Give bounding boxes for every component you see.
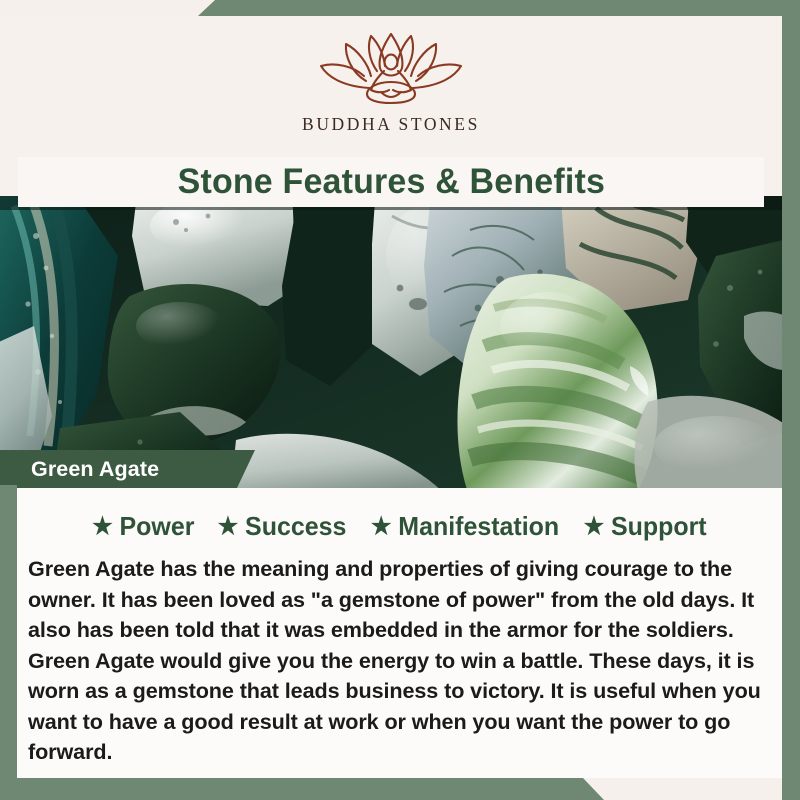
star-icon: ★ bbox=[217, 515, 238, 539]
stone-photo-illustration bbox=[0, 196, 800, 488]
keyword-list: ★ Power ★ Success ★ Manifestation ★ Supp… bbox=[17, 488, 782, 542]
stone-photo bbox=[0, 196, 800, 488]
decorative-bottom-band bbox=[0, 778, 800, 800]
keyword-label: Power bbox=[120, 511, 195, 542]
decorative-top-band bbox=[0, 0, 800, 16]
star-icon: ★ bbox=[583, 515, 604, 539]
keyword-label: Manifestation bbox=[398, 511, 559, 542]
stone-description: Green Agate has the meaning and properti… bbox=[28, 554, 772, 768]
header: BUDDHA STONES Stone Features & Benefits bbox=[0, 16, 782, 196]
lotus-meditation-icon bbox=[311, 26, 471, 110]
brand-logo: BUDDHA STONES bbox=[0, 26, 782, 135]
keyword-support: ★ Support bbox=[583, 511, 706, 542]
stone-name-banner: Green Agate bbox=[0, 450, 255, 488]
keyword-manifestation: ★ Manifestation bbox=[371, 511, 559, 542]
keyword-label: Support bbox=[611, 511, 707, 542]
decorative-right-band bbox=[782, 0, 800, 800]
keyword-success: ★ Success bbox=[217, 511, 346, 542]
keyword-power: ★ Power bbox=[92, 511, 194, 542]
stone-name: Green Agate bbox=[31, 457, 159, 482]
stone-features-infographic: BUDDHA STONES Stone Features & Benefits bbox=[0, 0, 800, 800]
star-icon: ★ bbox=[371, 515, 392, 539]
page-title-band: Stone Features & Benefits bbox=[18, 157, 764, 207]
decorative-left-band bbox=[0, 485, 17, 778]
star-icon: ★ bbox=[92, 515, 113, 539]
brand-name: BUDDHA STONES bbox=[302, 114, 480, 135]
description-panel: ★ Power ★ Success ★ Manifestation ★ Supp… bbox=[17, 488, 782, 778]
page-title: Stone Features & Benefits bbox=[177, 162, 604, 202]
keyword-label: Success bbox=[245, 511, 346, 542]
